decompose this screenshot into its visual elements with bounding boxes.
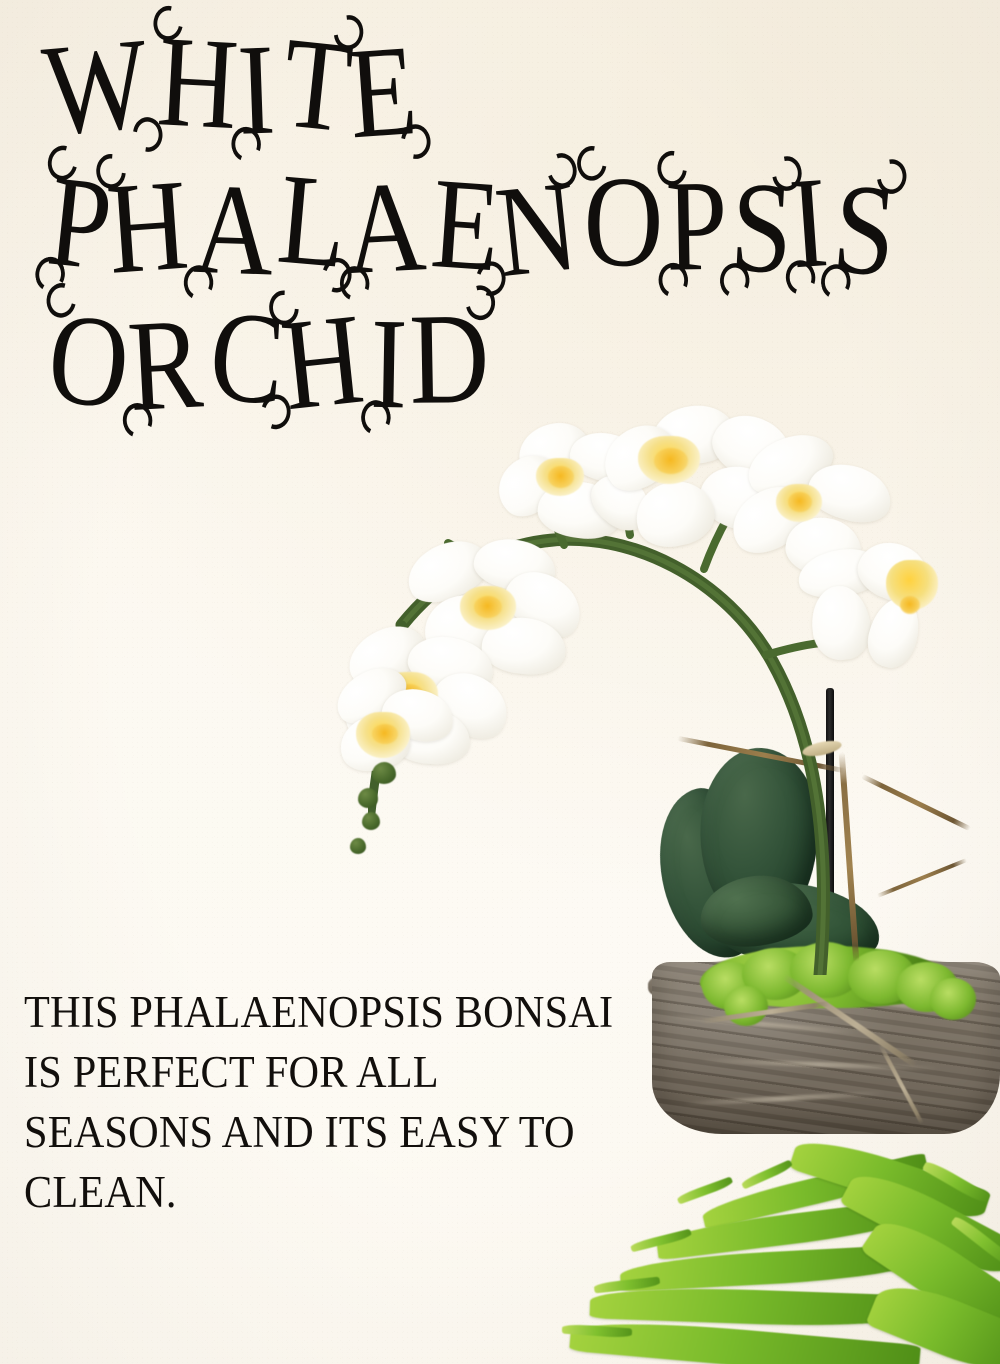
headline-letter: S [829,166,900,297]
headline-letter: I [787,160,832,288]
poster-canvas: WHITE PHALAENOPSIS ORCHID THIS PHALAENOP… [0,0,1000,1364]
headline-letter: A [192,167,275,296]
headline-letter: E [345,28,421,158]
description-line: SEASONS AND ITS EASY TO [24,1103,644,1163]
headline-letter: D [408,297,490,424]
headline-letter: R [126,302,207,432]
headline-letter: H [104,162,192,293]
headline-letter: A [342,164,428,294]
letter-curl-flourish [542,147,581,193]
description-line: THIS PHALAENOPSIS BONSAI [24,983,644,1043]
headline-letter: I [236,28,278,155]
headline-letter: P [664,163,727,290]
product-description: THIS PHALAENOPSIS BONSAI IS PERFECT FOR … [24,983,644,1222]
description-line: CLEAN. [24,1163,644,1223]
page-title: WHITE PHALAENOPSIS ORCHID [44,35,944,423]
headline-letter: N [491,163,583,297]
description-line: IS PERFECT FOR ALL [24,1043,644,1103]
letter-curl-flourish [871,152,912,200]
headline-letter: L [274,156,351,287]
headline-letter: H [277,297,370,431]
headline-letter: O [44,296,135,429]
headline-line-1: WHITE [44,35,944,148]
headline-letter: O [583,159,664,286]
headline-letter: H [155,19,242,149]
headline-letter: W [39,21,154,156]
headline-line-3: ORCHID [44,310,944,423]
headline-line-2: PHALAENOPSIS [44,174,944,287]
headline-letter: I [369,302,408,429]
headline-letter: S [728,164,795,293]
